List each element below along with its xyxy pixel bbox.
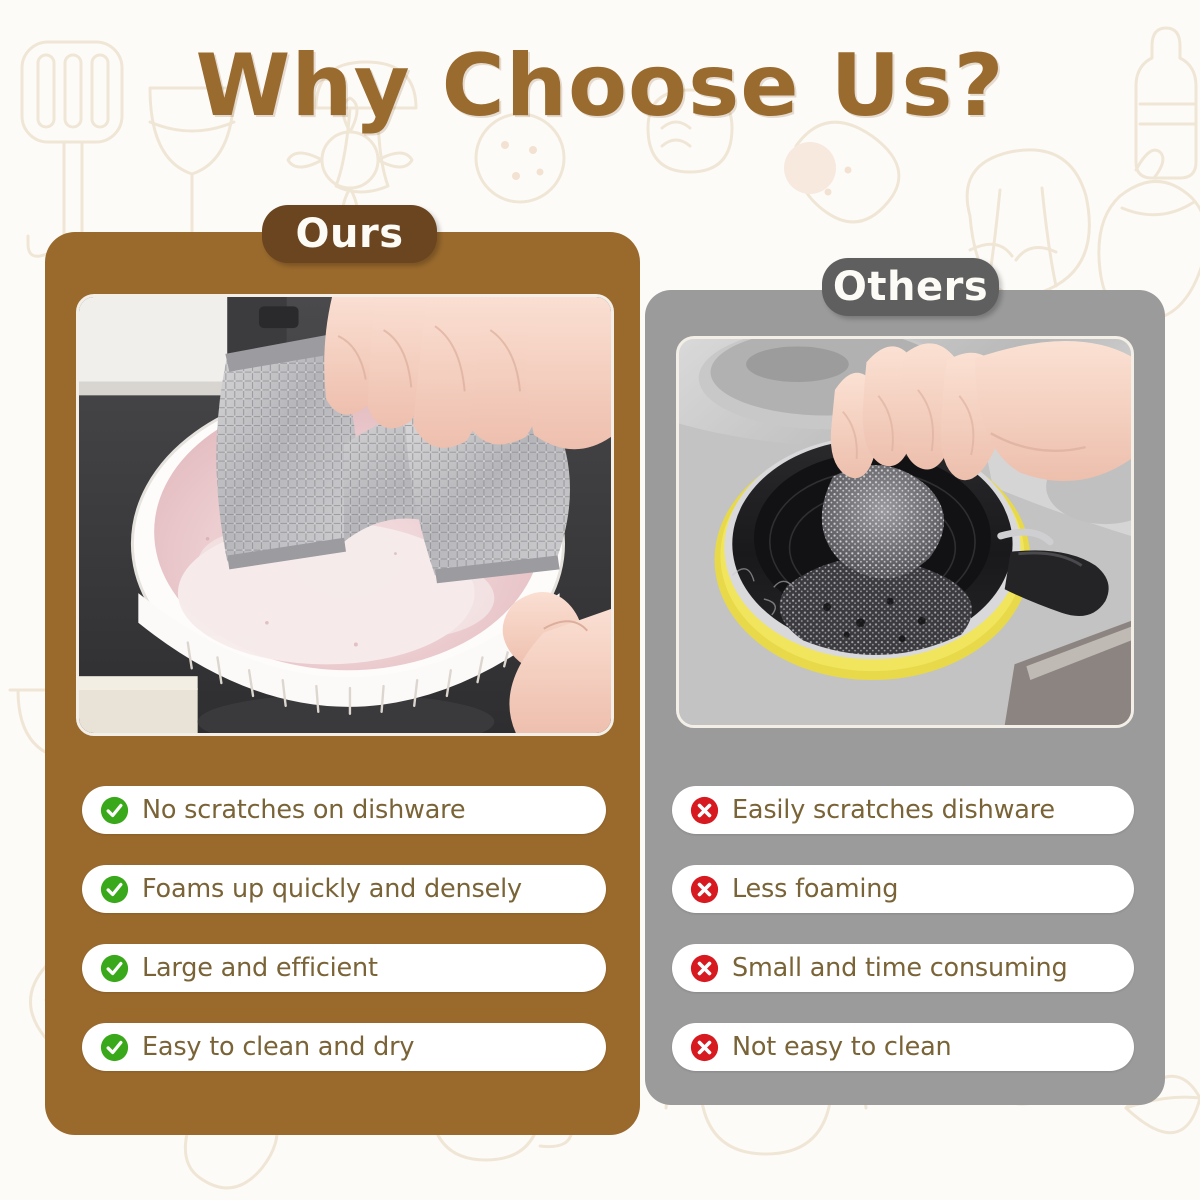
ours-feature-label: Foams up quickly and densely [142, 874, 522, 904]
x-circle-icon [690, 875, 719, 904]
badge-ours-label: Ours [295, 211, 403, 257]
x-circle-icon [690, 796, 719, 825]
others-feature-row[interactable]: Not easy to clean [672, 1023, 1134, 1071]
others-feature-row[interactable]: Less foaming [672, 865, 1134, 913]
ours-feature-row[interactable]: Foams up quickly and densely [82, 865, 606, 913]
others-feature-label: Easily scratches dishware [732, 795, 1055, 825]
x-circle-icon [690, 954, 719, 983]
ours-feature-row[interactable]: Large and efficient [82, 944, 606, 992]
check-circle-icon [100, 1033, 129, 1062]
ours-product-photo [76, 294, 614, 736]
others-feature-label: Less foaming [732, 874, 898, 904]
check-circle-icon [100, 875, 129, 904]
check-circle-icon [100, 954, 129, 983]
others-feature-row[interactable]: Small and time consuming [672, 944, 1134, 992]
page-title: Why Choose Us? [0, 36, 1200, 136]
others-feature-row[interactable]: Easily scratches dishware [672, 786, 1134, 834]
ours-feature-row[interactable]: Easy to clean and dry [82, 1023, 606, 1071]
check-circle-icon [100, 796, 129, 825]
ours-feature-label: Easy to clean and dry [142, 1032, 414, 1062]
badge-others-label: Others [833, 264, 988, 310]
badge-ours: Ours [262, 205, 437, 263]
ours-feature-row[interactable]: No scratches on dishware [82, 786, 606, 834]
others-product-photo [676, 336, 1134, 728]
others-feature-label: Not easy to clean [732, 1032, 951, 1062]
others-feature-label: Small and time consuming [732, 953, 1067, 983]
ours-feature-label: No scratches on dishware [142, 795, 465, 825]
badge-others: Others [822, 258, 999, 316]
x-circle-icon [690, 1033, 719, 1062]
ours-feature-label: Large and efficient [142, 953, 378, 983]
